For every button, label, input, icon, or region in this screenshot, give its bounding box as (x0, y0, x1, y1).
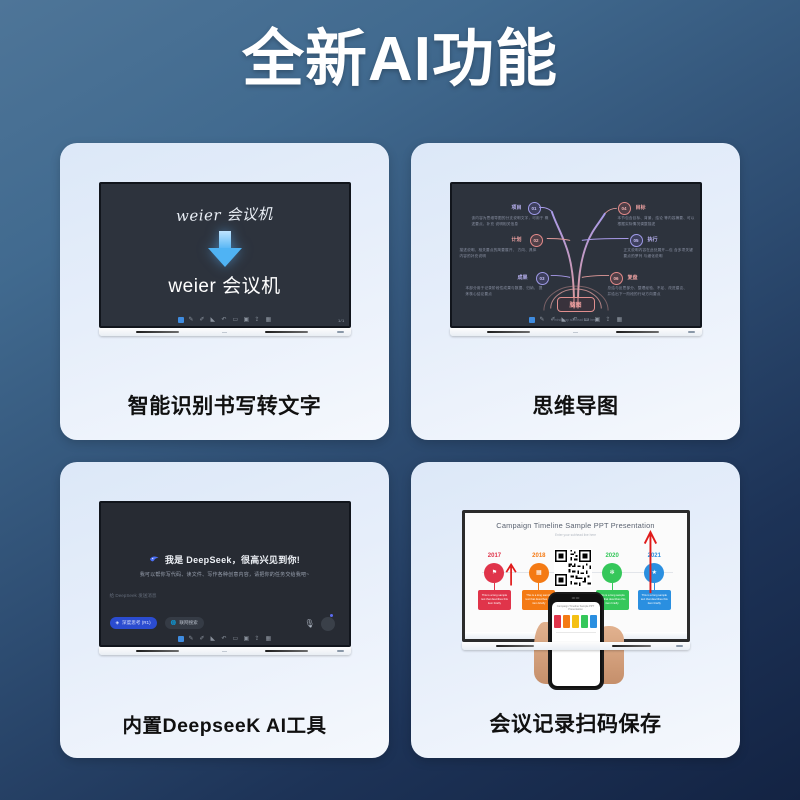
microphone-icon[interactable]: 🎙 (304, 619, 314, 628)
deepseek-toggle-row: ◈ 深度思考 (R1) 🌐 联网搜索 (110, 617, 204, 629)
speaker-grille-left (136, 650, 179, 652)
notification-dot-icon (330, 614, 333, 617)
mindmap-node[interactable]: 06 (610, 272, 623, 285)
speaker-grille-left (136, 331, 179, 333)
tv-base-bezel (99, 647, 351, 655)
card-label-qrsave: 会议记录扫码保存 (411, 694, 740, 758)
brush-icon[interactable]: ✐ (551, 317, 557, 323)
pen-icon[interactable]: ✎ (189, 317, 195, 323)
converted-text: weier 会议机 (168, 271, 280, 298)
brush-icon[interactable]: ✐ (200, 317, 206, 323)
base-logo (573, 332, 578, 333)
display-device: 01 项目 该内容为思维导图的分支说明文字，可用于 概述要点、补充 说明相关信息… (450, 182, 702, 336)
page-indicator: 1/1 (338, 318, 344, 323)
mindmap-node[interactable]: 03 (536, 272, 549, 285)
card-label-handwriting: 智能识别书写转文字 (60, 376, 389, 440)
mindmap-node-tag: 目标 (636, 204, 646, 211)
menu-icon[interactable] (529, 317, 535, 323)
mindmap-node-tag: 项目 (512, 204, 522, 211)
deepseek-app: 我是 DeepSeek，很高兴见到你! 我可以帮你写代码、读文件、写作各种创意内… (101, 503, 349, 645)
power-indicator-icon (676, 645, 683, 647)
tv-base-bezel (99, 328, 351, 336)
feature-card-qr-save[interactable]: Campaign Timeline Sample PPT Presentatio… (411, 462, 740, 759)
share-icon[interactable]: ⇪ (255, 317, 261, 323)
base-logo (222, 332, 227, 333)
share-icon[interactable]: ⇪ (255, 636, 261, 642)
power-indicator-icon (688, 331, 695, 333)
mindmap-node[interactable]: 05 (630, 234, 643, 247)
mindmap-node-text: 总结与反思部分、整理经验、不足、改进建议、 并给出下一阶段的行动方向要点 (608, 286, 692, 297)
deepseek-subtitle: 我可以帮你写代码、读文件、写作各种创意内容，请把你的任务交给我吧~ (101, 571, 349, 578)
select-icon[interactable]: ▣ (595, 317, 601, 323)
eraser-icon[interactable]: ◣ (211, 636, 217, 642)
share-icon[interactable]: ⇪ (606, 317, 612, 323)
screen-toolbar[interactable]: ✎ ✐ ◣ ↶ ▭ ▣ ⇪ ▦ (101, 313, 349, 326)
mindmap-node-text: 描述说明、相关要点的简要展开、 方向、具体内容的补充说明 (460, 248, 538, 259)
mindmap-node[interactable]: 04 (618, 202, 631, 215)
power-indicator-icon (337, 331, 344, 333)
mindmap-node-tag: 复盘 (628, 274, 638, 281)
speaker-grille-left (487, 331, 530, 333)
eraser-icon[interactable]: ◣ (211, 317, 217, 323)
card-label-mindmap: 思维导图 (411, 376, 740, 440)
mindmap-node[interactable]: 01 (528, 202, 541, 215)
deep-think-icon: ◈ (116, 620, 120, 626)
deep-think-button[interactable]: ◈ 深度思考 (R1) (110, 617, 157, 629)
page-header: 全新AI功能 (0, 0, 800, 95)
eraser-icon[interactable]: ◣ (562, 317, 568, 323)
shape-icon[interactable]: ▭ (233, 636, 239, 642)
ppt-slide: Campaign Timeline Sample PPT Presentatio… (465, 513, 687, 639)
deepseek-greeting-text: 我是 DeepSeek，很高兴见到你! (165, 553, 300, 566)
screen-toolbar[interactable]: ✎ ✐ ◣ ↶ ▭ ▣ ⇪ ▦ (101, 632, 349, 645)
tv-base-bezel (462, 642, 690, 650)
menu-icon[interactable] (178, 636, 184, 642)
mindmap-node-text: 本节包含目标、背景、结论 等内容摘要、可以 根据实际情况调整描述 (618, 216, 696, 227)
speaker-grille-right (265, 650, 308, 652)
card-media-qrsave: Campaign Timeline Sample PPT Presentatio… (411, 462, 740, 695)
select-icon[interactable]: ▣ (244, 636, 250, 642)
undo-icon[interactable]: ↶ (573, 317, 579, 323)
mind-map-canvas[interactable]: 01 项目 该内容为思维导图的分支说明文字，可用于 概述要点、补充 说明相关信息… (452, 184, 700, 326)
deepseek-whale-icon (149, 555, 160, 564)
screen-toolbar[interactable]: ✎ ✐ ◣ ↶ ▭ ▣ ⇪ ▦ (452, 313, 700, 326)
shape-icon[interactable]: ▭ (584, 317, 590, 323)
speaker-grille-left (496, 645, 535, 647)
display-device: 我是 DeepSeek，很高兴见到你! 我可以帮你写代码、读文件、写作各种创意内… (99, 501, 351, 655)
pen-icon[interactable]: ✎ (540, 317, 546, 323)
display-device: Campaign Timeline Sample PPT Presentatio… (462, 510, 690, 650)
handwritten-text: weier 会议机 (176, 203, 273, 226)
select-icon[interactable]: ▣ (244, 317, 250, 323)
tv-screen: 我是 DeepSeek，很高兴见到你! 我可以帮你写代码、读文件、写作各种创意内… (99, 501, 351, 647)
mindmap-node-tag: 执行 (648, 236, 658, 243)
card-label-deepseek: 内置DeepseeK AI工具 (60, 695, 389, 758)
card-media-handwriting: weier 会议机 weier 会议机 ✎ ✐ ◣ ↶ ▭ ▣ (60, 143, 389, 376)
feature-card-grid: weier 会议机 weier 会议机 ✎ ✐ ◣ ↶ ▭ ▣ (60, 143, 740, 758)
speaker-grille-right (612, 645, 651, 647)
speaker-grille-right (265, 331, 308, 333)
tv-screen: Campaign Timeline Sample PPT Presentatio… (462, 510, 690, 642)
mindmap-node-text: 本部分用于记录阶段性成果与数据、归纳、 提炼核心结论要点 (466, 286, 544, 297)
mindmap-root-node[interactable]: 脑图 (557, 297, 595, 312)
undo-icon[interactable]: ↶ (222, 636, 228, 642)
feature-card-deepseek[interactable]: 我是 DeepSeek，很高兴见到你! 我可以帮你写代码、读文件、写作各种创意内… (60, 462, 389, 759)
page-title: 全新AI功能 (0, 24, 800, 95)
tv-screen: weier 会议机 weier 会议机 ✎ ✐ ◣ ↶ ▭ ▣ (99, 182, 351, 328)
convert-arrow-icon (208, 231, 242, 267)
send-button[interactable] (321, 617, 335, 631)
mindmap-node-text: 正文说明内容在此处展开—包 含多项关键要点的罗列 与细化说明 (624, 248, 696, 259)
shape-icon[interactable]: ▭ (233, 317, 239, 323)
undo-icon[interactable]: ↶ (222, 317, 228, 323)
menu-icon[interactable] (178, 317, 184, 323)
base-logo (222, 651, 227, 652)
mindmap-node[interactable]: 02 (530, 234, 543, 247)
power-indicator-icon (337, 650, 344, 652)
feature-card-mind-map[interactable]: 01 项目 该内容为思维导图的分支说明文字，可用于 概述要点、补充 说明相关信息… (411, 143, 740, 440)
speaker-grille-right (616, 331, 659, 333)
web-search-button[interactable]: 🌐 联网搜索 (165, 617, 204, 629)
feature-card-handwriting-to-text[interactable]: weier 会议机 weier 会议机 ✎ ✐ ◣ ↶ ▭ ▣ (60, 143, 389, 440)
globe-icon: 🌐 (171, 620, 177, 626)
card-media-deepseek: 我是 DeepSeek，很高兴见到你! 我可以帮你写代码、读文件、写作各种创意内… (60, 462, 389, 696)
more-icon[interactable]: ▦ (266, 317, 272, 323)
brush-icon[interactable]: ✐ (200, 636, 206, 642)
tv-base-bezel (450, 328, 702, 336)
qr-code[interactable] (554, 549, 592, 587)
deepseek-input-placeholder[interactable]: 给 DeepSeek 发送消息 (110, 593, 157, 599)
deepseek-greeting-row: 我是 DeepSeek，很高兴见到你! (101, 553, 349, 566)
web-search-label: 联网搜索 (179, 620, 197, 626)
card-media-mindmap: 01 项目 该内容为思维导图的分支说明文字，可用于 概述要点、补充 说明相关信息… (411, 143, 740, 376)
more-icon[interactable]: ▦ (617, 317, 623, 323)
mindmap-node-text: 该内容为思维导图的分支说明文字，可用于 概述要点、补充 说明相关信息 (472, 216, 550, 227)
deep-think-label: 深度思考 (R1) (122, 620, 151, 626)
pen-icon[interactable]: ✎ (189, 636, 195, 642)
more-icon[interactable]: ▦ (266, 636, 272, 642)
mindmap-node-tag: 成果 (518, 274, 528, 281)
ppt-bottom-bezel (465, 632, 687, 639)
mindmap-node-tag: 计划 (512, 236, 522, 243)
tv-screen: 01 项目 该内容为思维导图的分支说明文字，可用于 概述要点、补充 说明相关信息… (450, 182, 702, 328)
display-device: weier 会议机 weier 会议机 ✎ ✐ ◣ ↶ ▭ ▣ (99, 182, 351, 336)
